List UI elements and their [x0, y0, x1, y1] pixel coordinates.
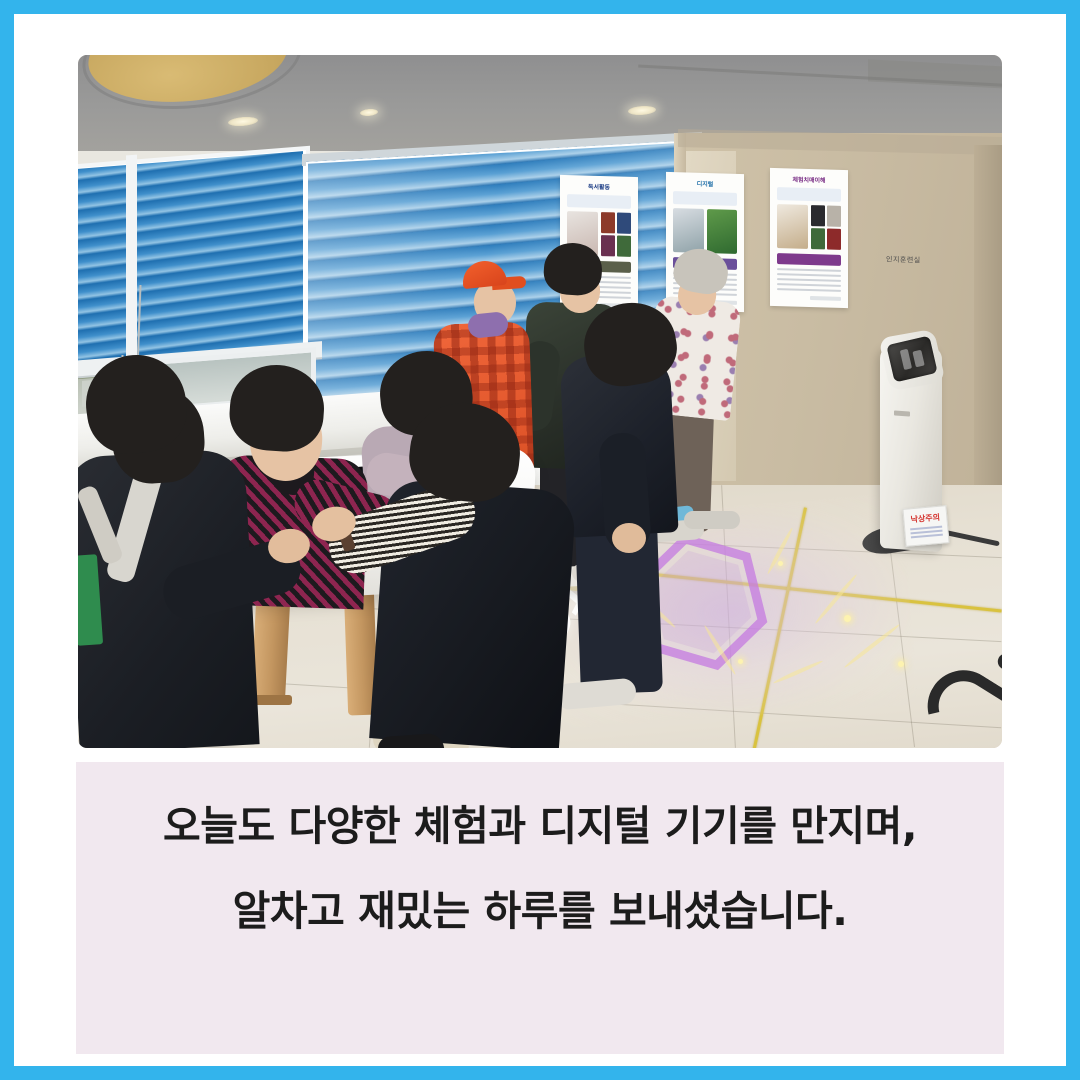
photo-caption-card: 인지훈련실 독서활동 디지털 — [0, 0, 1080, 1080]
fall-warning-text: 낙상주의 — [904, 511, 947, 526]
wall-poster: 체험치매이해 — [770, 168, 848, 308]
card-inner: 인지훈련실 독서활동 디지털 — [14, 14, 1066, 1066]
poster-title: 체험치매이해 — [776, 175, 842, 186]
window-frame-left — [78, 146, 310, 371]
table-foot — [254, 695, 292, 705]
caption-line-2: 알차고 재밌는 하루를 보내셨습니다. — [233, 891, 848, 932]
scene-photo: 인지훈련실 독서활동 디지털 — [78, 55, 1002, 748]
poster-text-lines — [777, 268, 841, 292]
poster-band — [777, 253, 841, 266]
poster-footer-logo — [810, 296, 841, 301]
caption-line-1: 오늘도 다양한 체험과 디지털 기기를 만지며, — [163, 806, 917, 847]
poster-artwork — [673, 208, 737, 254]
poster-title: 독서활동 — [566, 182, 632, 193]
window-mullion — [126, 155, 137, 361]
kiosk-logo — [894, 410, 910, 416]
caption-panel: 오늘도 다양한 체험과 디지털 기기를 만지며, 알차고 재밌는 하루를 보내셨… — [76, 762, 1004, 1054]
poster-subtitle-block — [567, 194, 631, 209]
poster-subtitle-block — [777, 187, 841, 202]
fall-warning-sign: 낙상주의 — [902, 505, 949, 547]
poster-artwork — [777, 204, 841, 250]
poster-subtitle-block — [673, 191, 737, 206]
room-sign-label: 인지훈련실 — [886, 255, 921, 266]
poster-title: 디지털 — [672, 179, 738, 190]
